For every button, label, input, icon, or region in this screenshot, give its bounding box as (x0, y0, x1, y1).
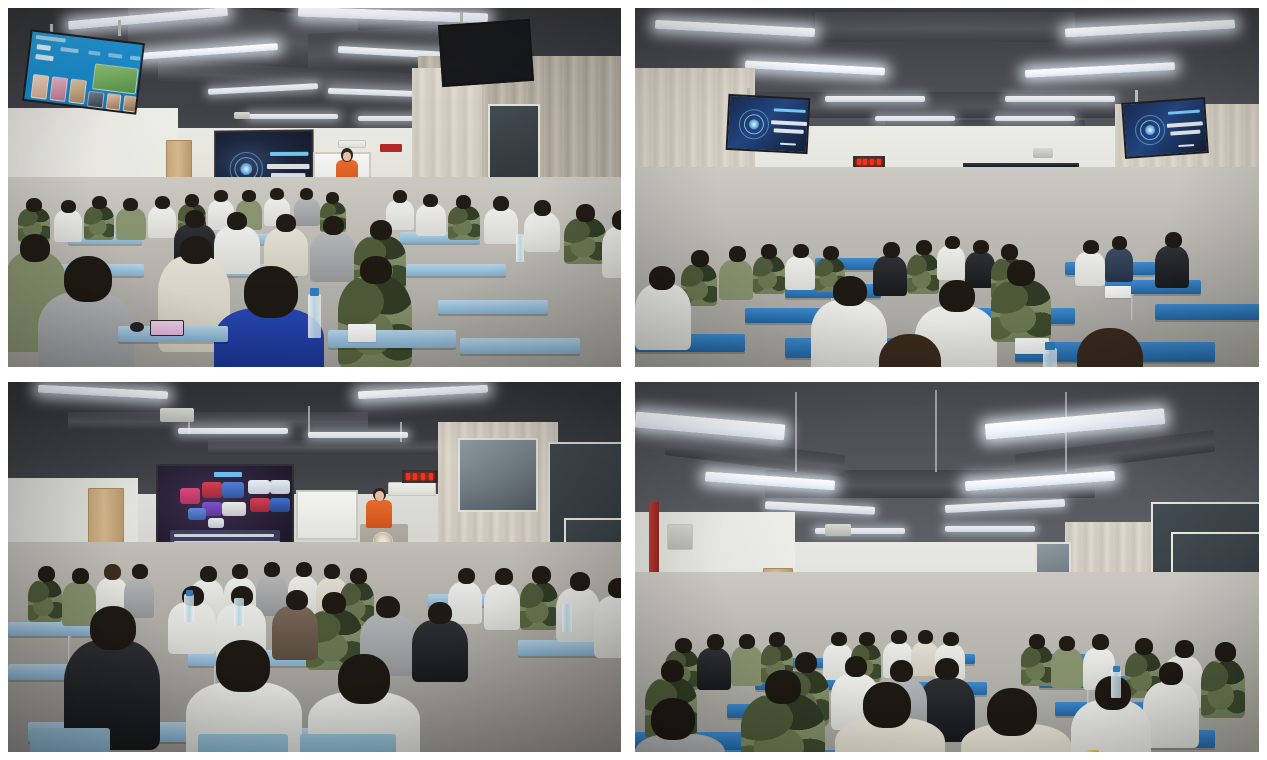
audience-head (883, 242, 900, 258)
wall-speaker (388, 482, 436, 496)
audience-person (635, 284, 691, 350)
audience-head (765, 670, 801, 704)
audience-person (148, 206, 176, 238)
audience-head (612, 210, 621, 230)
slide-emblem-core (240, 163, 252, 175)
bottle-cap (310, 288, 319, 296)
audience-person (907, 254, 939, 294)
collage-cell-top-left (0, 0, 628, 375)
display-headline-line (1167, 121, 1203, 128)
audience-head (338, 654, 390, 704)
audience-head (323, 216, 344, 235)
ceiling-light (308, 432, 408, 438)
media-tv-display[interactable] (22, 29, 145, 114)
tv-nav-item (108, 53, 122, 59)
audience-person (785, 256, 815, 290)
audience-person (116, 208, 146, 240)
audience-head (795, 652, 817, 673)
tv-tile[interactable] (87, 91, 105, 109)
audience-head (1112, 236, 1127, 250)
led-clock-display (402, 470, 438, 483)
display-headline-line (771, 120, 807, 126)
audience-head (216, 640, 270, 692)
audience-head (242, 190, 256, 202)
audience-head (326, 192, 339, 204)
audience-head (376, 596, 400, 618)
ceiling-light (995, 116, 1075, 121)
audience-head (945, 236, 960, 249)
audience-head (92, 196, 107, 209)
wall-box (667, 524, 693, 550)
audience-head (324, 564, 340, 579)
audience-head (20, 234, 50, 262)
window (458, 438, 538, 512)
beverage-bottle (1087, 750, 1099, 752)
audience-head (729, 246, 746, 262)
mindmap-node (208, 518, 224, 528)
audience-head (322, 592, 346, 614)
audience-head (393, 190, 407, 203)
event-display-right[interactable] (1121, 97, 1209, 159)
audience-head (370, 220, 392, 240)
audience-head (675, 638, 692, 653)
audience-head (1083, 240, 1099, 254)
desk (438, 300, 548, 314)
audience-person (310, 232, 356, 282)
desk (460, 338, 580, 354)
water-bottle (562, 604, 572, 632)
speaker-body (366, 500, 392, 528)
projector (160, 408, 194, 422)
audience-person (991, 280, 1051, 342)
scene-lecture-hall-twin-displays (635, 8, 1259, 367)
audience-head (1007, 260, 1035, 286)
display-eyebrow (1168, 110, 1200, 115)
audience-head (935, 658, 959, 680)
mindmap-node (248, 480, 270, 494)
desk (1155, 304, 1259, 320)
audience-head (185, 194, 199, 207)
ceiling-pipe (308, 406, 310, 434)
mindmap-node (270, 480, 290, 494)
audience-head (227, 212, 247, 230)
audience-head (495, 568, 513, 585)
bottle-cap (186, 590, 193, 596)
audience-head (64, 256, 112, 302)
display-headline-line (1170, 130, 1200, 136)
audience-person (1143, 682, 1199, 748)
audience-head (532, 566, 551, 584)
tv-tile[interactable] (123, 95, 138, 112)
audience-person (54, 210, 82, 242)
wall-monitor[interactable] (438, 19, 534, 87)
audience-head (863, 682, 911, 728)
audience-person (338, 276, 412, 367)
mindmap-node (202, 482, 222, 498)
water-bottle (1111, 670, 1121, 698)
scene-long-classroom-blue-slide (635, 382, 1259, 752)
audience-head (90, 606, 136, 650)
mindmap-node (222, 502, 246, 516)
audience-person-foreground (811, 300, 887, 367)
audience-head (458, 568, 475, 584)
audience-head (270, 188, 284, 200)
mindmap-node (188, 508, 206, 520)
tv-tile[interactable] (106, 93, 122, 111)
audience-head (833, 276, 867, 306)
audience-person (84, 206, 114, 240)
audience-person (484, 584, 520, 630)
audience-person (416, 204, 446, 236)
audience-head (1165, 232, 1182, 248)
audience-head (456, 195, 471, 209)
ceiling-light (945, 526, 1035, 532)
audience-person (448, 582, 482, 624)
tv-nav-item (60, 47, 78, 53)
tv-tile[interactable] (68, 79, 87, 105)
notebook (1105, 286, 1131, 298)
audience-person (1105, 248, 1133, 282)
audience-head (296, 562, 312, 577)
audience-person (520, 582, 558, 630)
audience-person (564, 218, 606, 264)
tv-tile[interactable] (30, 74, 49, 100)
event-display-left[interactable] (726, 94, 811, 154)
water-bottle (516, 234, 524, 262)
audience-head (831, 632, 847, 646)
audience-head (200, 566, 217, 582)
audience-head (1059, 636, 1075, 651)
audience-person (873, 256, 907, 296)
mindmap-node (180, 488, 200, 504)
audience-head (987, 688, 1037, 736)
audience-person (1051, 648, 1083, 688)
ceiling-light (875, 116, 955, 121)
audience-head (493, 196, 509, 211)
audience-head (570, 572, 590, 591)
audience-head (1215, 642, 1236, 662)
slide-headline-line (267, 164, 310, 169)
audience-person (731, 646, 763, 686)
display-footer-line (780, 143, 796, 146)
audience-head (534, 200, 551, 216)
wall-speaker (338, 140, 366, 148)
chair (30, 728, 110, 752)
audience-head (651, 698, 695, 740)
audience-person (1021, 646, 1053, 686)
audience-head (1159, 662, 1183, 685)
photo-top-left[interactable] (8, 8, 621, 367)
audience-person (294, 198, 320, 226)
audience-head (859, 632, 875, 646)
tv-feature-tile[interactable] (92, 63, 139, 94)
display-eyebrow (774, 108, 806, 113)
collage-cell-bottom-left (0, 375, 628, 760)
ceiling-light (825, 96, 925, 102)
mindmap-node (250, 498, 270, 512)
audience-head (244, 266, 298, 318)
audience-person (28, 580, 62, 622)
scene-dim-classroom-mindmap-slide (8, 382, 621, 752)
audience-head (576, 204, 595, 222)
printed-handout (348, 324, 376, 342)
mindmap-node (222, 482, 244, 498)
ceiling-duct (208, 440, 458, 454)
audience-head (264, 562, 280, 577)
audience-head (890, 660, 913, 682)
audience-person (697, 648, 731, 690)
audience-head (769, 632, 785, 647)
ceiling-pipe (935, 390, 937, 472)
audience-head (185, 210, 205, 228)
bottle-cap (1113, 666, 1120, 672)
audience-head (1029, 634, 1045, 649)
scene-lecture-hall-media-tv (8, 8, 621, 367)
mouse-device[interactable] (130, 322, 144, 332)
audience-person (753, 256, 785, 294)
audience-head (155, 196, 170, 209)
mindmap-node (270, 498, 290, 512)
audience-person (412, 620, 468, 682)
tv-mount (118, 20, 121, 36)
audience-head (943, 632, 959, 646)
tv-section-title (35, 54, 53, 61)
audience-person (448, 206, 480, 240)
desk-leg (1131, 294, 1134, 320)
photo-bottom-left[interactable] (8, 382, 621, 752)
projector (234, 112, 250, 119)
audience-head (891, 630, 907, 644)
water-bottle (184, 594, 194, 622)
speaker-face (343, 152, 351, 161)
audience-head (1001, 244, 1018, 260)
audience-head (423, 194, 438, 207)
audience-head (793, 244, 809, 258)
audience-person (1201, 660, 1245, 718)
audience-head (26, 198, 42, 212)
audience-person (272, 606, 318, 660)
water-bottle (308, 294, 321, 338)
audience-head (232, 564, 248, 579)
ceiling-duct (815, 12, 1075, 42)
exit-sign (380, 144, 402, 152)
audience-head (72, 568, 89, 584)
audience-head (661, 660, 684, 682)
audience-head (286, 590, 308, 610)
display-headline-line (774, 128, 804, 134)
audience-head (691, 250, 709, 267)
ceiling-light (248, 114, 338, 119)
audience-head (973, 240, 989, 254)
whiteboard (296, 490, 358, 540)
tablet-device[interactable] (150, 320, 184, 336)
audience-head (360, 256, 392, 284)
audience-head (104, 564, 121, 580)
speaker-face (375, 491, 384, 501)
water-bottle (1043, 348, 1057, 367)
ceiling-light (178, 428, 288, 434)
projector (1033, 148, 1053, 158)
audience-head (1092, 634, 1109, 650)
bottle-cap (1045, 342, 1055, 350)
audience-head (1135, 638, 1153, 655)
projector (825, 524, 851, 536)
audience-head (61, 200, 76, 213)
photo-collage (0, 0, 1267, 760)
chair (300, 734, 396, 752)
desk (406, 264, 506, 276)
tv-nav-item (88, 50, 100, 55)
collage-cell-top-right (628, 0, 1267, 375)
audience-head (845, 656, 867, 677)
audience-head (350, 568, 367, 584)
collage-cell-bottom-right (628, 375, 1267, 760)
audience-person (719, 260, 753, 300)
audience-person (484, 208, 518, 244)
audience-person (602, 226, 621, 278)
audience-person (524, 212, 560, 252)
ceiling-light (1005, 96, 1115, 102)
photo-bottom-right[interactable] (635, 382, 1259, 752)
tv-nav-item (130, 56, 140, 61)
audience-head (939, 280, 975, 312)
tv-logo (36, 35, 66, 43)
audience-head (214, 190, 228, 202)
water-bottle (234, 598, 244, 626)
audience-head (428, 602, 452, 624)
tv-nav-item (36, 44, 51, 51)
audience-head (916, 240, 932, 255)
chair (198, 734, 288, 752)
audience-head (649, 266, 675, 290)
tv-tile[interactable] (49, 76, 68, 102)
slide-text-line (174, 534, 274, 537)
slide-eyebrow (270, 152, 308, 156)
display-footer-line (1178, 144, 1194, 147)
audience-head (300, 188, 313, 200)
audience-head (739, 634, 755, 649)
audience-head (276, 214, 296, 232)
audience-head (608, 578, 621, 598)
audience-head (38, 566, 55, 582)
audience-head (823, 246, 839, 260)
audience-head (918, 630, 933, 644)
audience-head (180, 236, 212, 264)
audience-head (707, 634, 724, 650)
photo-top-right[interactable] (635, 8, 1259, 367)
audience-head (123, 198, 138, 211)
audience-head (1175, 640, 1194, 658)
audience-person (1155, 246, 1189, 288)
audience-head (761, 244, 777, 259)
audience-person (937, 246, 965, 280)
audience-person (594, 596, 621, 658)
slide-title (214, 472, 242, 477)
ceiling-pipe (795, 392, 797, 472)
audience-person (1075, 252, 1105, 286)
audience-head (132, 564, 148, 579)
